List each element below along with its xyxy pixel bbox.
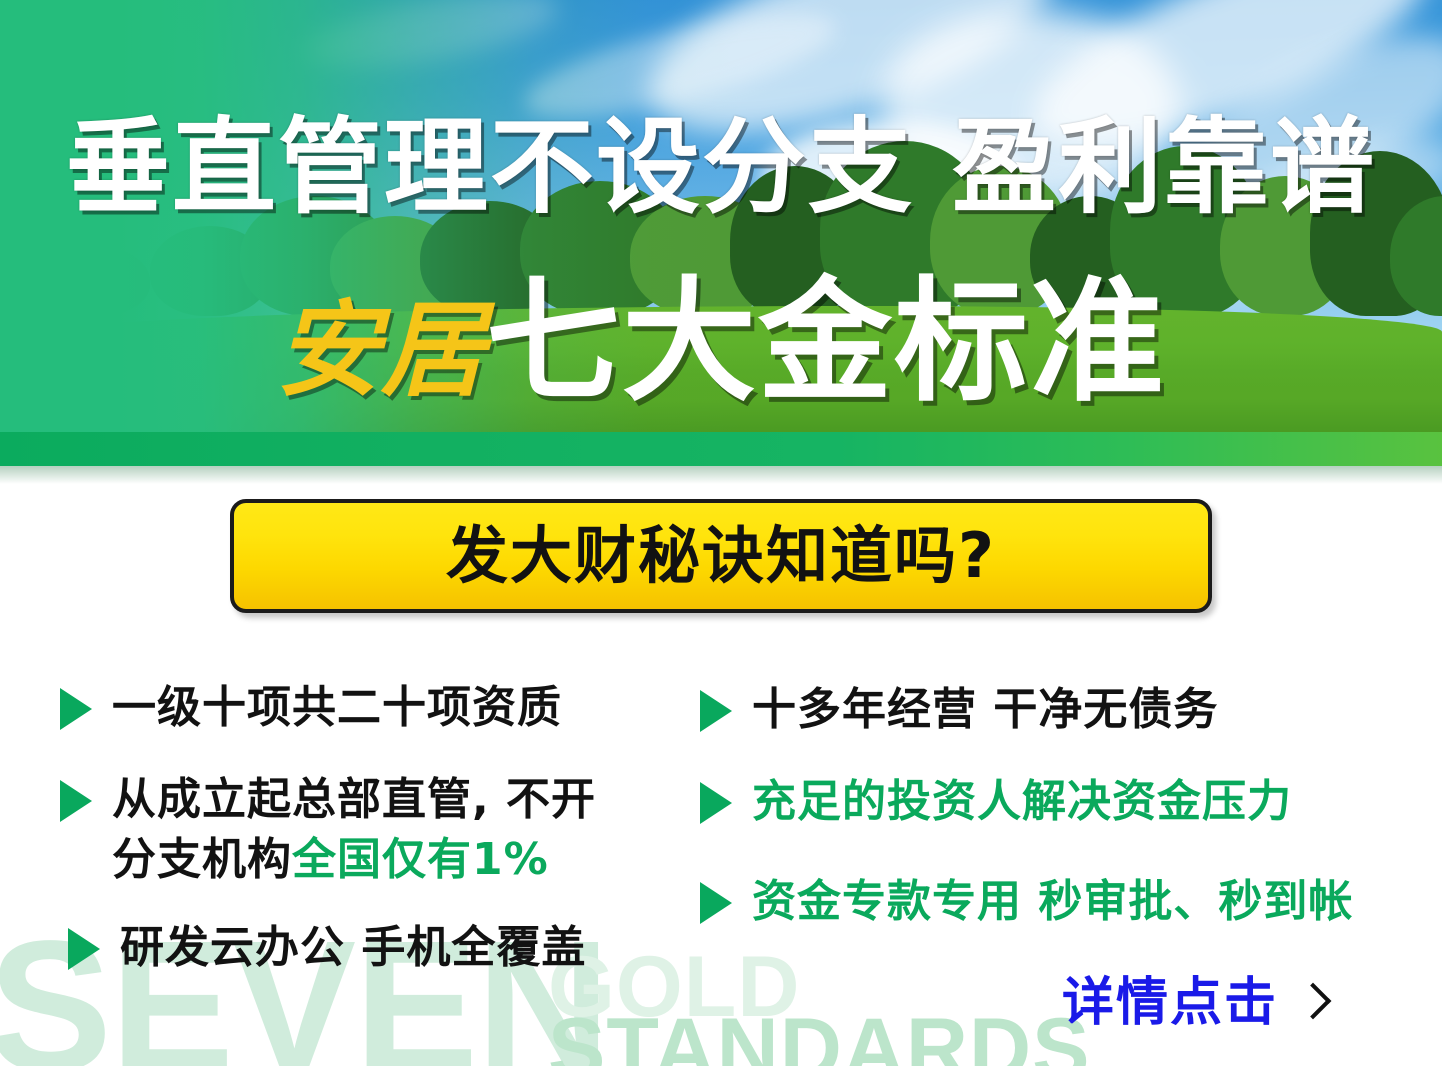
feature-item: 十多年经营 干净无债务 (700, 680, 1218, 740)
feature-item-highlight: 全国仅有1% (292, 834, 549, 885)
feature-item: 从成立起总部直管, 不开 分支机构全国仅有1% (60, 770, 596, 890)
triangle-right-icon (700, 690, 732, 732)
feature-item-label: 资金专款专用 秒审批、秒到帐 (752, 872, 1353, 932)
chevron-right-icon (1295, 983, 1332, 1020)
feature-lists: 一级十项共二十项资质 从成立起总部直管, 不开 分支机构全国仅有1% 研发云办公… (0, 640, 1442, 980)
hero-banner: 垂直管理不设分支 盈利靠谱 安居七大金标准 (0, 0, 1442, 466)
highlight-banner[interactable]: 发大财秘诀知道吗? (230, 499, 1212, 613)
hero-headline-line1: 垂直管理不设分支 盈利靠谱 (0, 112, 1442, 222)
feature-item: 研发云办公 手机全覆盖 (68, 918, 586, 978)
hero-drop-shadow (0, 466, 1442, 484)
highlight-banner-text: 发大财秘诀知道吗? (446, 525, 996, 587)
hero-headline-main: 七大金标准 (486, 272, 1166, 412)
triangle-right-icon (60, 688, 92, 730)
feature-item: 充足的投资人解决资金压力 (700, 772, 1292, 832)
watermark-standards: STANDARDS (548, 1006, 1091, 1066)
triangle-right-icon (60, 780, 92, 822)
details-cta-button[interactable]: 详情点击 (1062, 975, 1326, 1031)
feature-item-label: 充足的投资人解决资金压力 (752, 772, 1292, 832)
triangle-right-icon (700, 782, 732, 824)
feature-item: 资金专款专用 秒审批、秒到帐 (700, 872, 1353, 932)
feature-item-label: 研发云办公 手机全覆盖 (120, 918, 586, 978)
details-cta-label: 详情点击 (1062, 975, 1278, 1031)
brand-name: 安居 (276, 288, 486, 412)
triangle-right-icon (68, 928, 100, 970)
hero-headline-line2: 安居七大金标准 (0, 272, 1442, 412)
feature-item-label: 十多年经营 干净无债务 (752, 680, 1218, 740)
promo-page: 垂直管理不设分支 盈利靠谱 安居七大金标准 发大财秘诀知道吗? SEVEN GO… (0, 0, 1442, 1066)
feature-item: 一级十项共二十项资质 (60, 678, 562, 738)
feature-item-label: 一级十项共二十项资质 (112, 678, 562, 738)
hero-bottom-bar (0, 432, 1442, 466)
feature-item-label: 从成立起总部直管, 不开 分支机构全国仅有1% (112, 770, 596, 890)
triangle-right-icon (700, 882, 732, 924)
